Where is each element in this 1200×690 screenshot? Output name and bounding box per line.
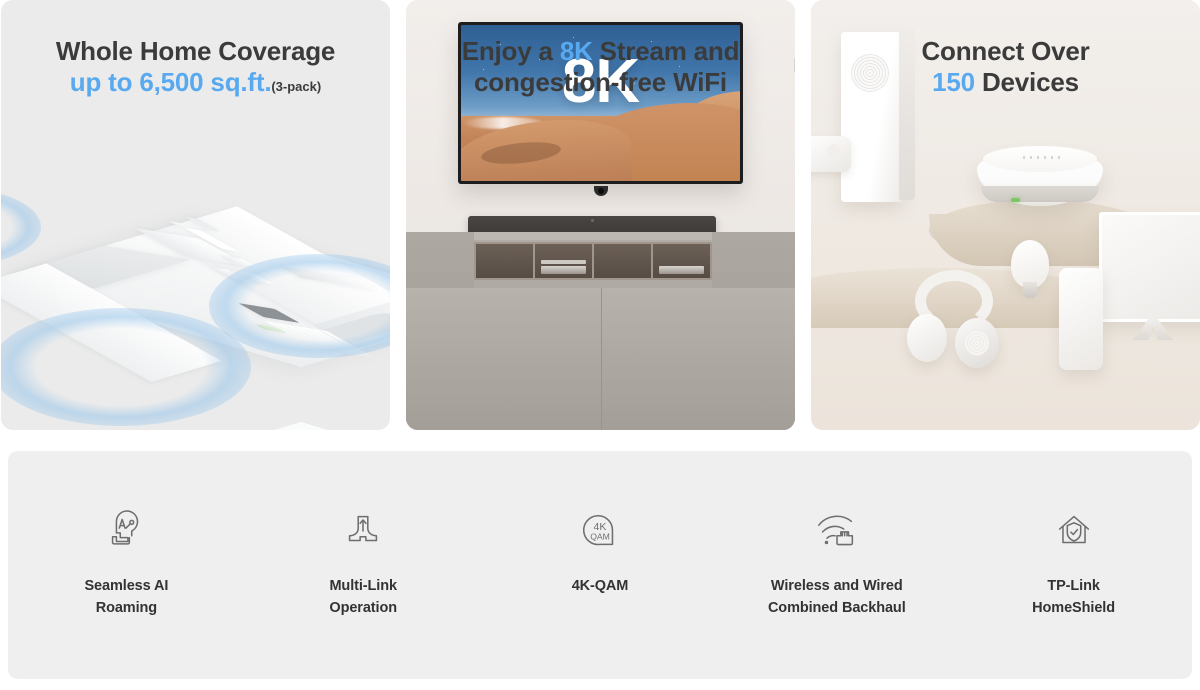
- card-2-heading-line2: congestion-free WiFi: [406, 67, 795, 98]
- card-3-highlight: 150: [932, 67, 975, 97]
- feature-label-5: TP-Link HomeShield: [1032, 575, 1115, 619]
- feature-label-3-line1: 4K-QAM: [572, 575, 629, 597]
- smart-bulb: [1011, 240, 1049, 288]
- card-1-heading-line1: Whole Home Coverage: [1, 36, 390, 67]
- card-3-heading: Connect Over 150 Devices: [811, 0, 1200, 98]
- feature-label-2: Multi-Link Operation: [329, 575, 397, 619]
- feature-multi-link-operation[interactable]: Multi-Link Operation: [258, 503, 468, 619]
- feature-label-4: Wireless and Wired Combined Backhaul: [768, 575, 906, 619]
- smartphone: [1059, 268, 1103, 370]
- card-3-line2-post: Devices: [975, 67, 1079, 97]
- feature-combined-backhaul[interactable]: Wireless and Wired Combined Backhaul: [732, 503, 942, 619]
- feature-label-5-line1: TP-Link: [1032, 575, 1115, 597]
- card-1-heading-line2: up to 6,500 sq.ft.(3-pack): [1, 67, 390, 102]
- 4k-qam-icon: 4K QAM: [577, 503, 623, 557]
- monitor: [1099, 212, 1200, 322]
- smart-bulb-base: [1023, 282, 1037, 298]
- card-8k-stream[interactable]: Enjoy a 8K Stream and congestion-free Wi…: [406, 0, 795, 430]
- feature-label-1-line2: Roaming: [84, 597, 168, 619]
- isometric-home-illustration: [1, 112, 390, 430]
- feature-tp-link-homeshield[interactable]: TP-Link HomeShield: [969, 503, 1179, 619]
- feature-label-2-line1: Multi-Link: [329, 575, 397, 597]
- shelf-cell-4: [653, 244, 710, 278]
- card-1-highlight: up to 6,500 sq.ft.: [70, 67, 272, 97]
- coverage-wave-3: [1, 188, 41, 266]
- media-console: [406, 232, 795, 430]
- router-top-surface: [983, 146, 1097, 172]
- card-2-highlight: 8K: [560, 36, 593, 66]
- coverage-wave-1: [1, 308, 251, 426]
- headphone-cup-right: [955, 318, 999, 368]
- shelf-gadget: [541, 266, 586, 274]
- wifi-ethernet-icon: [812, 503, 862, 557]
- card-whole-home-coverage[interactable]: Whole Home Coverage up to 6,500 sq.ft.(3…: [1, 0, 390, 430]
- card-3-heading-line1: Connect Over: [811, 36, 1200, 67]
- qam-icon-text-bottom: QAM: [590, 532, 610, 542]
- marketing-feature-page: Whole Home Coverage up to 6,500 sq.ft.(3…: [0, 0, 1200, 690]
- card-2-line1-pre: Enjoy a: [462, 36, 560, 66]
- shelf-cell-1: [476, 244, 535, 278]
- shelf-gadget-2: [659, 266, 704, 274]
- router-base: [981, 186, 1099, 202]
- headphones: [907, 270, 1001, 368]
- card-1-pack-note: (3-pack): [271, 79, 321, 94]
- feature-label-1: Seamless AI Roaming: [84, 575, 168, 619]
- home-shield-icon: [1051, 503, 1097, 557]
- feature-label-1-line1: Seamless AI: [84, 575, 168, 597]
- feature-label-4-line1: Wireless and Wired: [768, 575, 906, 597]
- console-door-seam: [601, 288, 602, 430]
- console-shelves: [474, 242, 712, 280]
- feature-label-4-line2: Combined Backhaul: [768, 597, 906, 619]
- card-2-heading-line1: Enjoy a 8K Stream and: [406, 36, 795, 67]
- router-vent-dots: [1023, 156, 1061, 159]
- headphone-cup-left: [907, 314, 947, 362]
- feature-4k-qam[interactable]: 4K QAM 4K-QAM: [495, 503, 705, 597]
- card-connect-devices[interactable]: Connect Over 150 Devices: [811, 0, 1200, 430]
- game-controller: [811, 136, 851, 172]
- shelf-cell-3: [594, 244, 653, 278]
- multi-link-icon: [340, 503, 386, 557]
- shelf-cell-2: [535, 244, 594, 278]
- feature-label-5-line2: HomeShield: [1032, 597, 1115, 619]
- feature-label-3: 4K-QAM: [572, 575, 629, 597]
- card-3-heading-line2: 150 Devices: [811, 67, 1200, 98]
- router-status-led: [1011, 198, 1020, 202]
- card-1-heading: Whole Home Coverage up to 6,500 sq.ft.(3…: [1, 0, 390, 102]
- card-2-line1-post: Stream and: [593, 36, 740, 66]
- feature-seamless-ai-roaming[interactable]: Seamless AI Roaming: [21, 503, 231, 619]
- card-2-heading: Enjoy a 8K Stream and congestion-free Wi…: [406, 0, 795, 98]
- shelf-gadget-top: [541, 260, 586, 264]
- feature-label-2-line2: Operation: [329, 597, 397, 619]
- ai-head-icon: [103, 503, 149, 557]
- feature-highlights-panel: Seamless AI Roaming Multi-Link Operation: [8, 451, 1192, 679]
- feature-card-row: Whole Home Coverage up to 6,500 sq.ft.(3…: [0, 0, 1200, 432]
